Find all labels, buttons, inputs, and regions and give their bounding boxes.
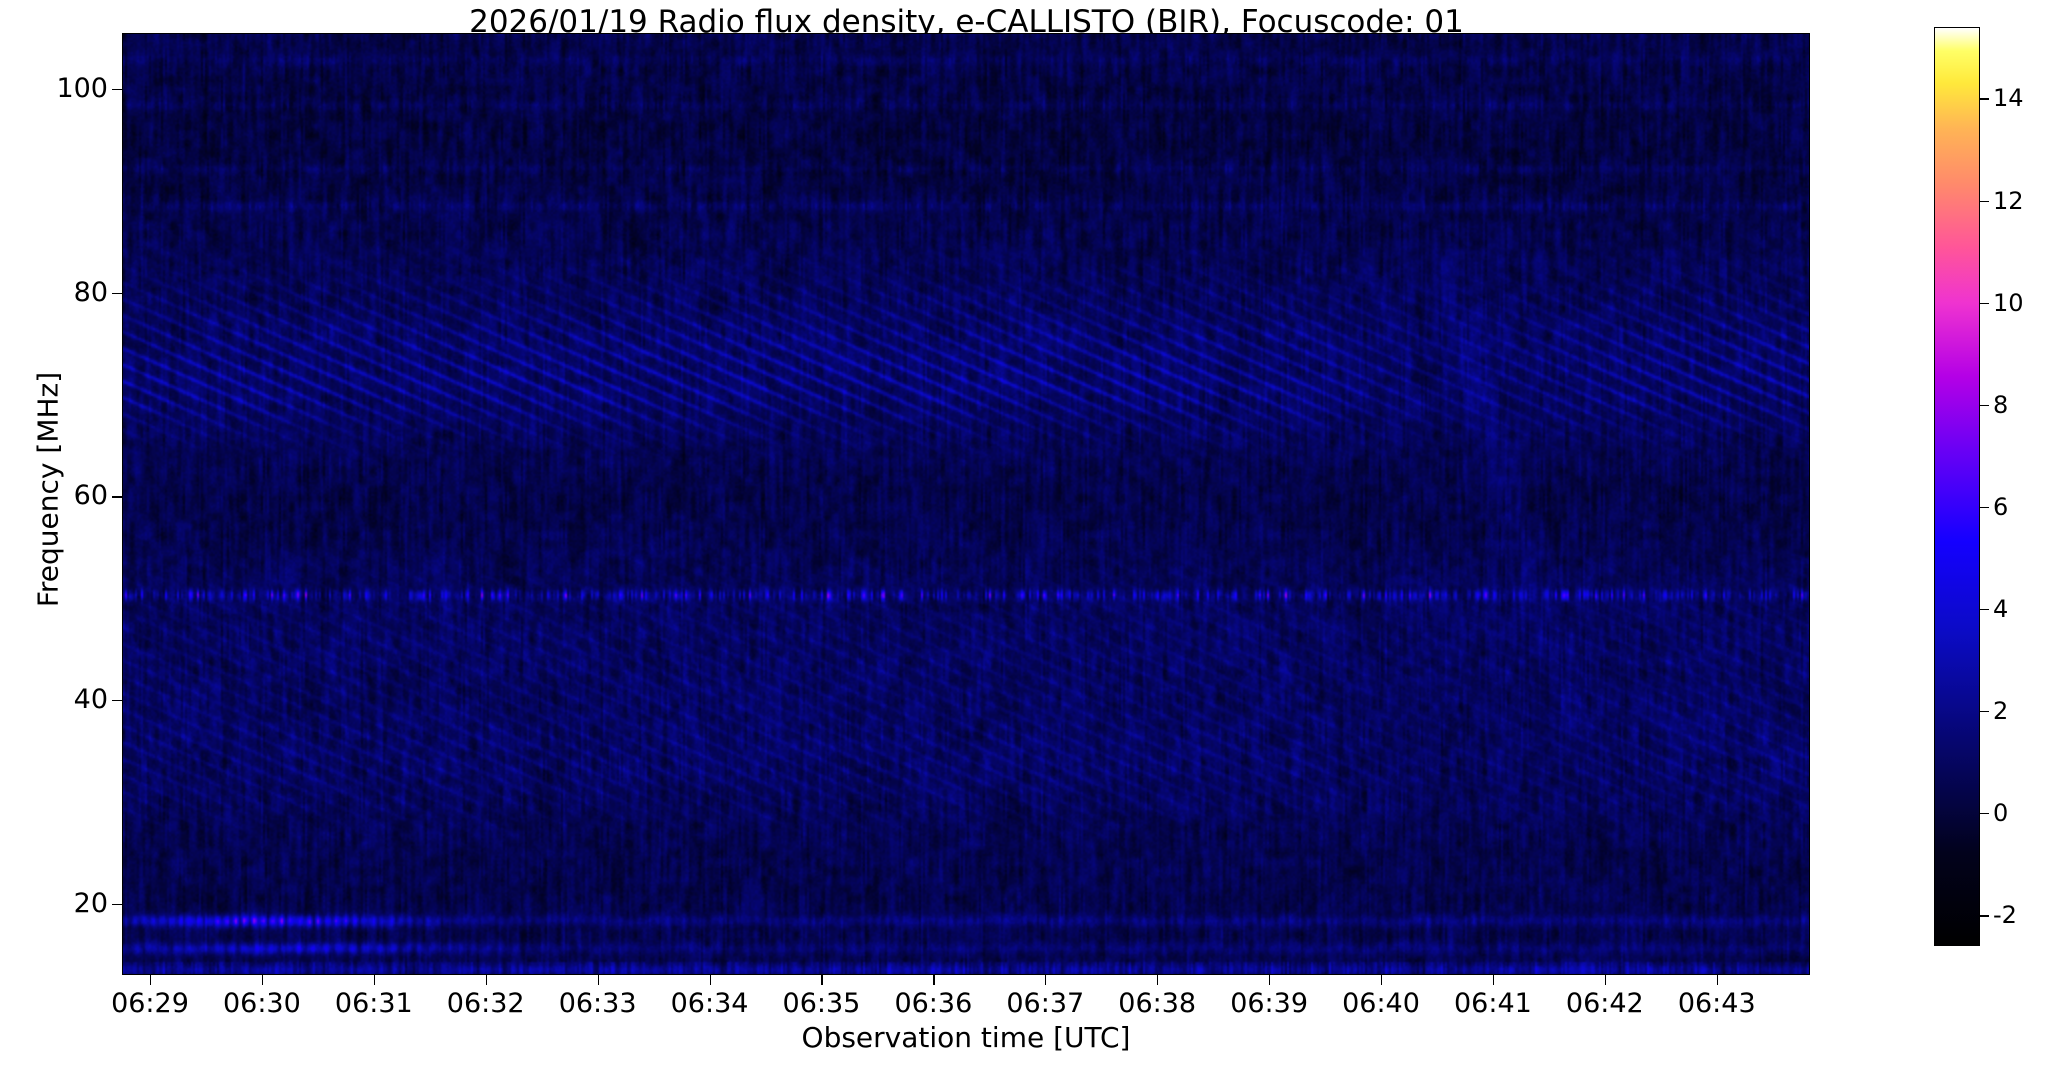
x-axis-tick-label: 06:32	[447, 990, 525, 1017]
x-axis-tick-mark	[821, 975, 822, 985]
x-axis-tick-mark	[1269, 975, 1270, 985]
y-axis-tick-label: 100	[56, 75, 108, 102]
colorbar-tick-mark	[1980, 915, 1989, 916]
colorbar-tick-mark	[1980, 303, 1989, 304]
spectrogram-plot-area	[122, 33, 1810, 975]
x-axis-tick-mark	[1045, 975, 1046, 985]
spectrogram-image	[123, 34, 1810, 975]
x-axis-tick-mark	[1157, 975, 1158, 985]
x-axis-tick-label: 06:35	[783, 990, 861, 1017]
colorbar-gradient	[1935, 28, 1979, 945]
x-axis-tick-label: 06:29	[111, 990, 189, 1017]
colorbar	[1934, 27, 1980, 946]
x-axis-tick-label: 06:40	[1342, 990, 1420, 1017]
x-axis-tick-mark	[1717, 975, 1718, 985]
x-axis-tick-label: 06:33	[559, 990, 637, 1017]
colorbar-tick-label: 0	[1993, 801, 2008, 825]
x-axis-tick-label: 06:31	[335, 990, 413, 1017]
y-axis-tick-mark	[112, 700, 122, 701]
colorbar-tick-mark	[1980, 98, 1989, 99]
y-axis-tick-label: 80	[74, 279, 108, 306]
colorbar-tick-mark	[1980, 609, 1989, 610]
colorbar-tick-label: 12	[1993, 189, 2024, 213]
spectrogram-figure: 2026/01/19 Radio flux density, e-CALLIST…	[0, 0, 2066, 1067]
x-axis-tick-mark	[150, 975, 151, 985]
colorbar-tick-label: -2	[1993, 903, 2017, 927]
colorbar-tick-label: 14	[1993, 86, 2024, 110]
x-axis-tick-mark	[1381, 975, 1382, 985]
x-axis-tick-mark	[710, 975, 711, 985]
colorbar-tick-label: 10	[1993, 291, 2024, 315]
x-axis-tick-mark	[1605, 975, 1606, 985]
y-axis-tick-mark	[112, 293, 122, 294]
x-axis-tick-label: 06:30	[223, 990, 301, 1017]
y-axis-tick-label: 20	[74, 890, 108, 917]
y-axis-tick-labels: 10080604020	[0, 0, 108, 1067]
x-axis-tick-mark	[598, 975, 599, 985]
colorbar-tick-mark	[1980, 507, 1989, 508]
y-axis-tick-label: 60	[74, 482, 108, 509]
y-axis-tick-mark	[112, 89, 122, 90]
x-axis-tick-mark	[374, 975, 375, 985]
x-axis-tick-label: 06:37	[1006, 990, 1084, 1017]
colorbar-tick-label: 2	[1993, 699, 2008, 723]
x-axis-tick-label: 06:39	[1230, 990, 1308, 1017]
colorbar-tick-label: 6	[1993, 495, 2008, 519]
colorbar-tick-mark	[1980, 711, 1989, 712]
x-axis-tick-mark	[486, 975, 487, 985]
x-axis-tick-label: 06:42	[1566, 990, 1644, 1017]
x-axis-tick-label: 06:43	[1678, 990, 1756, 1017]
x-axis-tick-label: 06:38	[1118, 990, 1196, 1017]
colorbar-tick-mark	[1980, 813, 1989, 814]
colorbar-tick-mark	[1980, 405, 1989, 406]
x-axis-label: Observation time [UTC]	[122, 1021, 1810, 1054]
x-axis-tick-mark	[1493, 975, 1494, 985]
x-axis-tick-label: 06:34	[671, 990, 749, 1017]
y-axis-tick-mark	[112, 496, 122, 497]
x-axis-tick-mark	[262, 975, 263, 985]
x-axis-tick-label: 06:36	[894, 990, 972, 1017]
y-axis-tick-mark	[112, 904, 122, 905]
colorbar-tick-label: 4	[1993, 597, 2008, 621]
x-axis-tick-label: 06:41	[1454, 990, 1532, 1017]
y-axis-tick-label: 40	[74, 686, 108, 713]
x-axis-tick-mark	[933, 975, 934, 985]
colorbar-tick-mark	[1980, 201, 1989, 202]
colorbar-tick-label: 8	[1993, 393, 2008, 417]
